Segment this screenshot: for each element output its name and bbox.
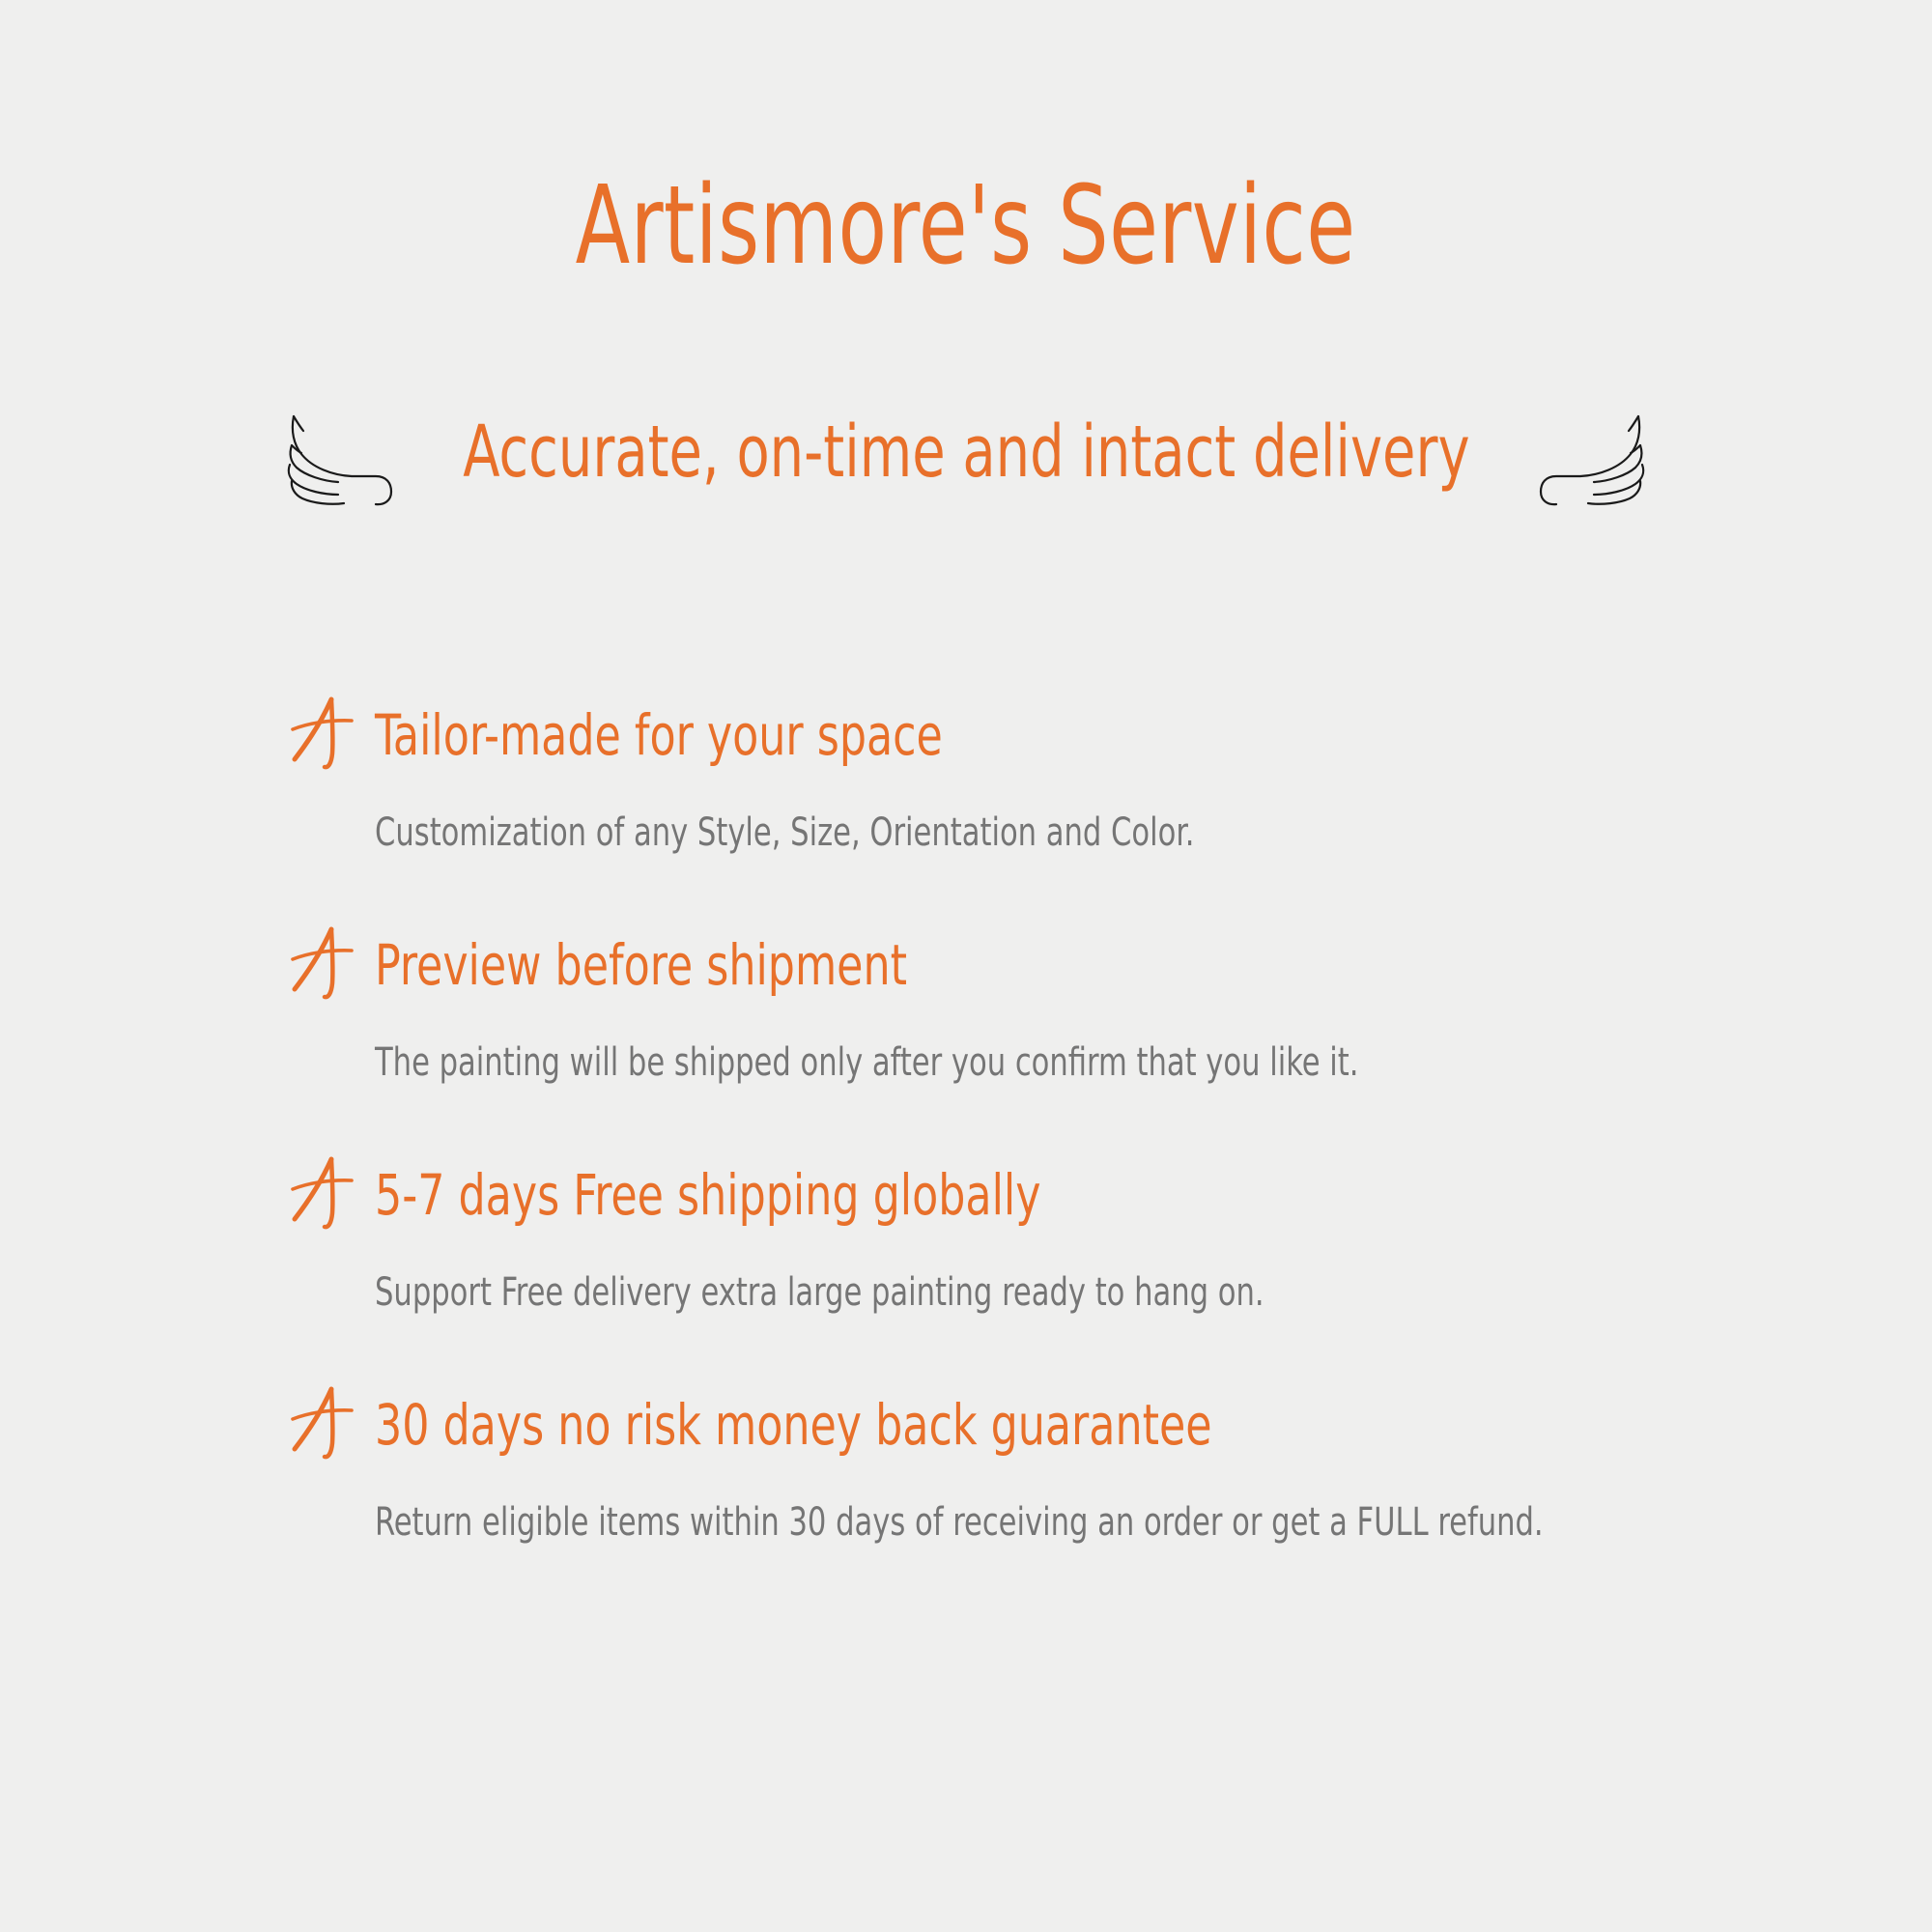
wing-icon xyxy=(280,406,394,506)
service-item-title: 30 days no risk money back guarantee xyxy=(375,1391,1212,1453)
page-subtitle: Accurate, on-time and intact delivery xyxy=(463,415,1469,497)
script-a-icon xyxy=(286,925,357,1001)
service-item: 5-7 days Free shipping globally Support … xyxy=(286,1161,1870,1312)
service-item-description: Return eligible items within 30 days of … xyxy=(375,1503,1646,1542)
service-item-title: 5-7 days Free shipping globally xyxy=(375,1161,1040,1223)
script-a-icon xyxy=(286,696,357,771)
service-item-description: Support Free delivery extra large painti… xyxy=(375,1273,1646,1312)
service-item: Preview before shipment The painting wil… xyxy=(286,931,1870,1082)
service-item-title: Preview before shipment xyxy=(375,931,907,993)
page-title: Artismore's Service xyxy=(576,172,1356,280)
service-info-panel: Artismore's Service Accurate, on-time an… xyxy=(0,0,1932,1932)
service-item: 30 days no risk money back guarantee Ret… xyxy=(286,1391,1870,1542)
service-item-description: Customization of any Style, Size, Orient… xyxy=(375,813,1646,852)
service-item-header: Preview before shipment xyxy=(286,931,1870,1001)
page-title-container: Artismore's Service xyxy=(0,172,1932,280)
service-item: Tailor-made for your space Customization… xyxy=(286,701,1870,852)
subtitle-row: Accurate, on-time and intact delivery xyxy=(0,406,1932,506)
service-item-header: Tailor-made for your space xyxy=(286,701,1870,771)
script-a-icon xyxy=(286,1385,357,1461)
wing-icon xyxy=(1538,406,1652,506)
service-item-header: 5-7 days Free shipping globally xyxy=(286,1161,1870,1231)
service-list: Tailor-made for your space Customization… xyxy=(286,701,1870,1542)
service-item-title: Tailor-made for your space xyxy=(375,701,943,763)
script-a-icon xyxy=(286,1155,357,1231)
service-item-header: 30 days no risk money back guarantee xyxy=(286,1391,1870,1461)
service-item-description: The painting will be shipped only after … xyxy=(375,1043,1646,1082)
